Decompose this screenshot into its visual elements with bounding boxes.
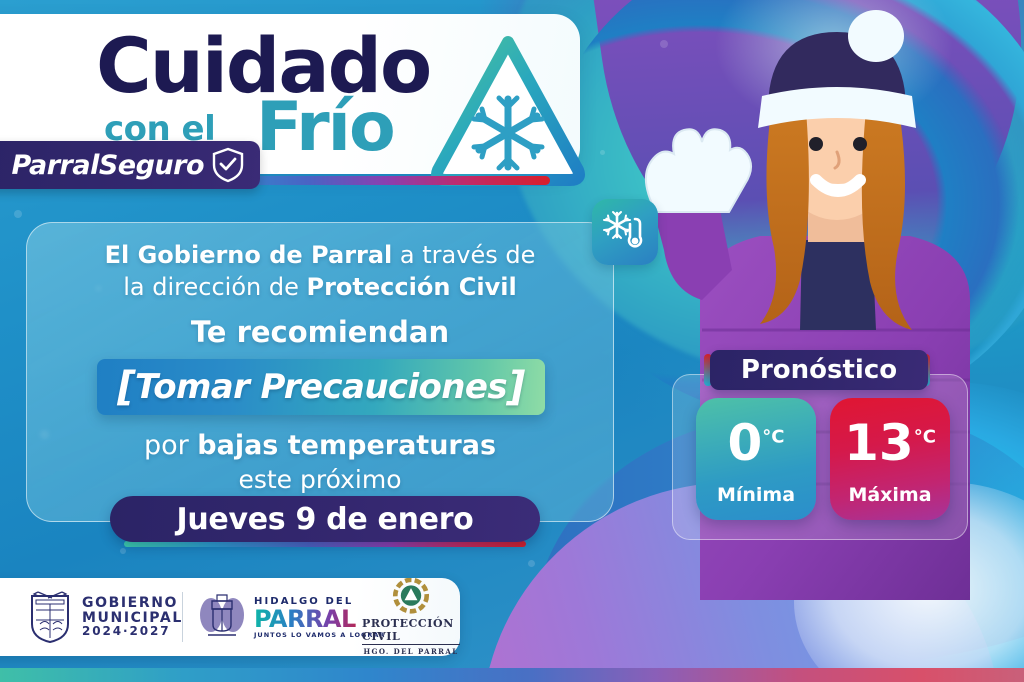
- temperature-card-max: 13°C Máxima: [830, 398, 950, 520]
- recommendation-card: El Gobierno de Parral a través de la dir…: [26, 222, 614, 522]
- message-line-1-rest: a través de: [392, 241, 535, 269]
- message-line-6: este próximo: [27, 467, 613, 493]
- temp-min-value: 0: [727, 414, 762, 472]
- logo-divider-1: [182, 592, 183, 642]
- temperature-card-min: 0°C Mínima: [696, 398, 816, 520]
- temp-max-value-wrap: 13°C: [830, 418, 950, 468]
- proteccion-line-2: HGO. DEL PARRAL: [363, 647, 458, 656]
- municipal-crest-icon: [28, 590, 72, 644]
- highlight-label: Tomar Precauciones: [135, 367, 507, 407]
- bracket-close: ]: [507, 364, 525, 410]
- highlight-chip: [Tomar Precauciones]: [97, 359, 545, 415]
- temp-min-value-wrap: 0°C: [696, 418, 816, 468]
- message-line-5-bold: bajas temperaturas: [197, 430, 496, 461]
- logo-hidalgo-parral: HIDALGO DEL PARRAL JUNTOS LO VAMOS A LOG…: [198, 578, 385, 656]
- snowflake-thermometer-badge: [592, 199, 658, 265]
- forecast-title: Pronóstico: [741, 355, 897, 385]
- logo-gobierno-municipal: GOBIERNO MUNICIPAL 2024·2027: [28, 578, 183, 656]
- forecast-title-banner: Pronóstico: [710, 350, 928, 390]
- message-line-2-rest: la dirección de: [123, 273, 306, 301]
- logo-bar: GOBIERNO MUNICIPAL 2024·2027 HIDALGO DEL…: [0, 578, 460, 656]
- parral-seguro-badge: ParralSeguro: [0, 141, 260, 189]
- message-line-2: la dirección de Protección Civil: [27, 275, 613, 300]
- bracket-open: [: [117, 364, 135, 410]
- parral-seguro-label: ParralSeguro: [11, 150, 204, 181]
- message-line-5-light: por: [144, 430, 197, 461]
- temp-min-label: Mínima: [696, 484, 816, 506]
- civil-protection-emblem-icon: [388, 578, 434, 615]
- message-line-3: Te recomiendan: [27, 317, 613, 347]
- shield-check-icon: [212, 147, 244, 183]
- gobierno-line-1: GOBIERNO: [82, 596, 183, 611]
- message-line-2-bold: Protección Civil: [307, 273, 517, 301]
- message-line-1-bold: El Gobierno de Parral: [105, 241, 393, 269]
- temp-min-unit: °C: [762, 426, 784, 447]
- snowflake-warning-triangle-icon: [428, 30, 588, 190]
- proteccion-line-1: PROTECCIÓN CIVIL: [362, 617, 460, 645]
- forecast-panel: Pronóstico 0°C Mínima 13°C Máxima: [672, 350, 968, 540]
- temp-max-label: Máxima: [830, 484, 950, 506]
- date-badge: Jueves 9 de enero: [110, 496, 540, 542]
- date-label: Jueves 9 de enero: [176, 502, 473, 537]
- poster-canvas: Cuidado con el Frío: [0, 0, 1024, 682]
- title-frio: Frío: [256, 94, 394, 162]
- gobierno-line-2: MUNICIPAL: [82, 611, 183, 626]
- parral-monument-icon: [198, 591, 246, 643]
- message-line-5: por bajas temperaturas: [27, 432, 613, 460]
- gobierno-line-3: 2024·2027: [82, 625, 183, 638]
- highlight-chip-text: [Tomar Precauciones]: [97, 359, 545, 415]
- message-line-1: El Gobierno de Parral a través de: [27, 243, 613, 268]
- temp-max-value: 13: [844, 414, 914, 472]
- bottom-accent-strip: [0, 668, 1024, 682]
- temp-max-unit: °C: [914, 426, 936, 447]
- logo-proteccion-civil: PROTECCIÓN CIVIL HGO. DEL PARRAL: [362, 578, 460, 656]
- snowflake-thermometer-icon: [602, 209, 648, 255]
